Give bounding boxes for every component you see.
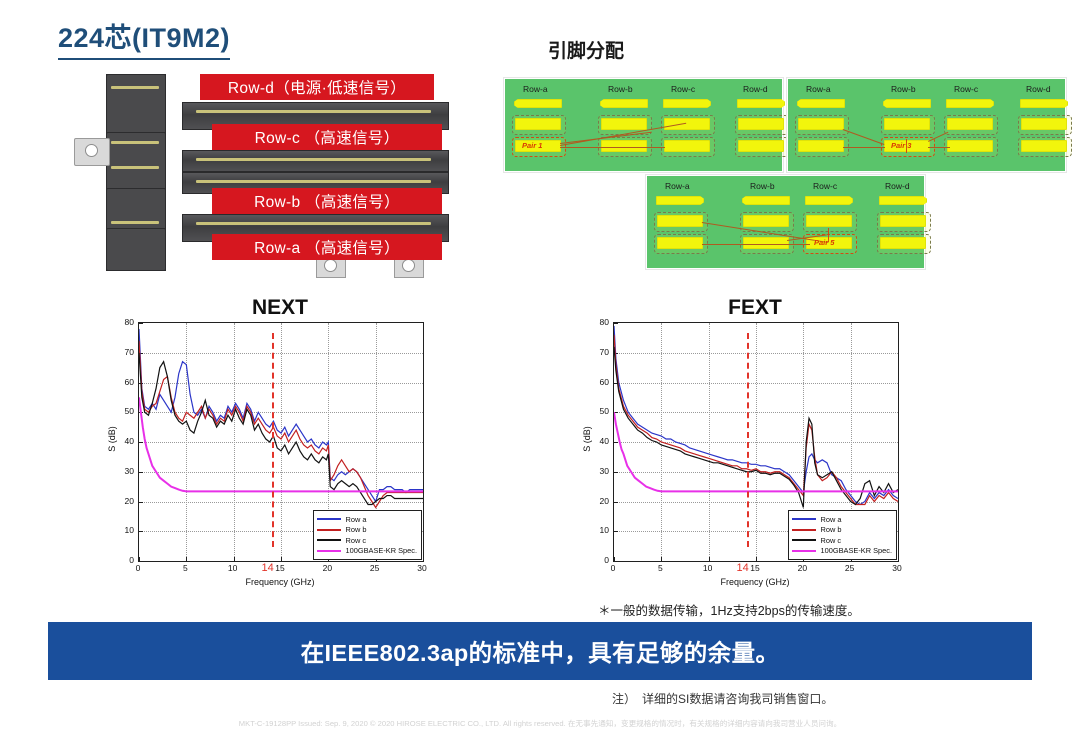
pin-bar-top-d (737, 99, 785, 108)
row-label-row-c: Row-c （高速信号） (212, 124, 442, 150)
legend-label: Row a (821, 516, 842, 523)
series-line (614, 335, 898, 505)
x-tick-label: 25 (839, 563, 861, 573)
y-tick-label: 50 (112, 406, 134, 416)
legend-item: Row a (317, 514, 417, 525)
legend-label: Row b (821, 526, 842, 533)
series-line (139, 353, 423, 505)
series-line (614, 412, 898, 491)
y-axis-label: S (dB) (582, 419, 592, 459)
next-chart: NEXTRow aRow bRow c100GBASE-KR Spec.0102… (100, 296, 430, 594)
chart-title: FEXT (613, 296, 897, 320)
pin-bar-b2 (601, 140, 647, 152)
legend-swatch (792, 518, 816, 520)
connector-plug-pin-1 (196, 110, 431, 113)
legend-swatch (792, 539, 816, 541)
y-tick-label: 10 (112, 525, 134, 535)
connector-pin-1 (111, 86, 159, 89)
pin-bar-top-b-3 (742, 196, 790, 205)
pair-tag-3: Pair 3 (891, 141, 911, 150)
pin-bar-a1 (515, 118, 561, 130)
pin-bar-d1-2 (1021, 118, 1067, 130)
pin-col-label-row-d: Row-d (743, 84, 768, 94)
y-tick-label: 70 (112, 347, 134, 357)
pin-bar-a1-2 (798, 118, 844, 130)
series-line (614, 347, 898, 508)
conclusion-banner-text: 在IEEE802.3ap的标准中，具有足够的余量。 (301, 634, 780, 668)
connector-left-seg-1 (106, 74, 166, 134)
x-tick-mark (898, 557, 899, 561)
pin-bar-c2-2 (947, 140, 993, 152)
pin-link-10 (702, 244, 810, 245)
pin-link-2 (560, 147, 665, 148)
y-tick-label: 50 (587, 406, 609, 416)
connector-plug-mid1 (182, 150, 449, 172)
pair-tag-1: Pair 1 (522, 141, 542, 150)
plot-area: Row aRow bRow c100GBASE-KR Spec. (613, 322, 899, 562)
pin-col-label-row-c-2: Row-c (954, 84, 978, 94)
y-tick-mark (139, 561, 143, 562)
y-tick-label: 10 (587, 525, 609, 535)
annotation-vertical-line (272, 333, 274, 547)
connector-pin-3 (111, 166, 159, 169)
legend-label: Row c (821, 537, 842, 544)
legend-swatch (317, 550, 341, 552)
y-tick-mark (614, 561, 618, 562)
x-tick-label: 20 (791, 563, 813, 573)
x-tick-label: 5 (174, 563, 196, 573)
x-tick-label: 30 (411, 563, 433, 573)
y-tick-label: 60 (112, 377, 134, 387)
pin-bar-top-b-2 (883, 99, 931, 108)
legend-item: Row a (792, 514, 892, 525)
y-tick-label: 20 (587, 496, 609, 506)
pin-bar-top-b (600, 99, 648, 108)
pin-bar-top-a-3 (656, 196, 704, 205)
y-tick-label: 30 (112, 466, 134, 476)
pin-col-label-row-b-2: Row-b (891, 84, 916, 94)
row-label-row-a: Row-a （高速信号） (212, 234, 442, 260)
legend-item: Row b (792, 525, 892, 536)
legend-item: Row c (317, 535, 417, 546)
pin-panel-pair-5: Row-a Row-b Row-c Row-d Pair 5 (646, 175, 925, 269)
y-tick-label: 60 (587, 377, 609, 387)
chart-legend: Row aRow bRow c100GBASE-KR Spec. (788, 510, 897, 560)
pin-bar-d2-3 (880, 237, 926, 249)
pin-col-label-row-d-2: Row-d (1026, 84, 1051, 94)
pin-bar-b1-2 (884, 118, 930, 130)
pin-col-label-row-c: Row-c (671, 84, 695, 94)
y-axis-label: S (dB) (107, 419, 117, 459)
connector-plug-pin-3 (196, 180, 431, 183)
pin-bar-c2 (664, 140, 710, 152)
connector-figure: Row-d（电源·低速信号） Row-c （高速信号） Row-b （高速信号）… (76, 66, 446, 281)
pin-bar-b1-3 (743, 215, 789, 227)
series-line (139, 329, 423, 502)
legend-label: Row c (346, 537, 367, 544)
page-title: 224芯(IT9M2) (58, 16, 230, 60)
pin-col-label-row-a: Row-a (523, 84, 548, 94)
legend-label: 100GBASE-KR Spec. (346, 547, 417, 554)
x-tick-label: 0 (602, 563, 624, 573)
connector-pin-2 (111, 141, 159, 144)
connector-left-seg-4 (106, 228, 166, 271)
legend-label: 100GBASE-KR Spec. (821, 547, 892, 554)
pin-col-label-row-a-3: Row-a (665, 181, 690, 191)
legend-item: Row b (317, 525, 417, 536)
pin-col-label-row-a-2: Row-a (806, 84, 831, 94)
footer-copyright: MKT-C-19128PP Issued: Sep. 9, 2020 © 202… (0, 718, 1080, 729)
legend-swatch (317, 529, 341, 531)
pin-panel-pair-3: Row-a Row-b Row-c Row-d Pair 3 (787, 78, 1066, 172)
legend-item: Row c (792, 535, 892, 546)
note-line: 注） 详细的SI数据请咨询我司销售窗口。 (612, 690, 833, 707)
chart-title: NEXT (138, 296, 422, 320)
fext-chart: FEXTRow aRow bRow c100GBASE-KR Spec.0102… (575, 296, 905, 594)
pin-bar-d2 (738, 140, 784, 152)
pin-col-label-row-c-3: Row-c (813, 181, 837, 191)
pin-bar-top-a (514, 99, 562, 108)
pin-bar-a1-3 (657, 215, 703, 227)
pin-col-label-row-b-3: Row-b (750, 181, 775, 191)
legend-swatch (317, 539, 341, 541)
pin-bar-a2-2 (798, 140, 844, 152)
pin-link-5 (843, 147, 885, 148)
connector-foot-hole-right (402, 259, 415, 272)
x-tick-label: 25 (364, 563, 386, 573)
pin-bar-b2-3 (743, 237, 789, 249)
connector-plug-pin-4 (196, 222, 431, 225)
pin-bar-b1 (601, 118, 647, 130)
pin-assignment-title: 引脚分配 (548, 36, 624, 63)
pin-bar-c1-2 (947, 118, 993, 130)
x-tick-label: 10 (697, 563, 719, 573)
y-tick-label: 80 (587, 317, 609, 327)
x-tick-label: 20 (316, 563, 338, 573)
connector-mount-hole (85, 144, 98, 157)
pin-bar-c1-3 (806, 215, 852, 227)
x-tick-label: 0 (127, 563, 149, 573)
pin-col-label-row-d-3: Row-d (885, 181, 910, 191)
x-tick-label: 30 (886, 563, 908, 573)
pin-bar-top-c-3 (805, 196, 853, 205)
pin-bar-d1 (738, 118, 784, 130)
pair-tag-5: Pair 5 (814, 238, 834, 247)
pin-bar-top-a-2 (797, 99, 845, 108)
pin-link-7 (928, 147, 950, 148)
x-axis-label: Frequency (GHz) (138, 577, 422, 587)
annotation-label: 14 (737, 562, 749, 574)
pin-bar-d2-2 (1021, 140, 1067, 152)
pin-bar-top-c-2 (946, 99, 994, 108)
row-label-row-b: Row-b （高速信号） (212, 188, 442, 214)
pin-bar-d1-3 (880, 215, 926, 227)
pin-col-label-row-b: Row-b (608, 84, 633, 94)
conclusion-banner: 在IEEE802.3ap的标准中，具有足够的余量。 (48, 622, 1032, 680)
connector-plug-pin-2 (196, 158, 431, 161)
y-tick-label: 70 (587, 347, 609, 357)
y-tick-label: 30 (587, 466, 609, 476)
plot-area: Row aRow bRow c100GBASE-KR Spec. (138, 322, 424, 562)
legend-label: Row a (346, 516, 367, 523)
y-tick-label: 80 (112, 317, 134, 327)
pin-bar-a2-3 (657, 237, 703, 249)
legend-label: Row b (346, 526, 367, 533)
legend-swatch (792, 529, 816, 531)
connector-foot-hole-left (324, 259, 337, 272)
x-tick-label: 10 (222, 563, 244, 573)
x-tick-label: 5 (649, 563, 671, 573)
fext-footnote: ＊一般的数据传输，1Hz支持2bps的传输速度。 (598, 600, 860, 619)
legend-swatch (317, 518, 341, 520)
pin-bar-top-d-3 (879, 196, 927, 205)
row-label-row-d: Row-d（电源·低速信号） (200, 74, 434, 100)
pin-bar-c1 (664, 118, 710, 130)
series-line (139, 397, 423, 491)
legend-item: 100GBASE-KR Spec. (317, 546, 417, 557)
x-tick-mark (423, 557, 424, 561)
annotation-label: 14 (262, 562, 274, 574)
pin-bar-top-d-2 (1020, 99, 1068, 108)
chart-legend: Row aRow bRow c100GBASE-KR Spec. (313, 510, 422, 560)
series-line (614, 326, 898, 505)
legend-swatch (792, 550, 816, 552)
legend-item: 100GBASE-KR Spec. (792, 546, 892, 557)
annotation-vertical-line (747, 333, 749, 547)
connector-pin-4 (111, 221, 159, 224)
pin-bar-top-c (663, 99, 711, 108)
y-tick-label: 20 (112, 496, 134, 506)
pin-panel-pair-1: Row-a Row-b Row-c Row-d Pair 1 (504, 78, 783, 172)
x-axis-label: Frequency (GHz) (613, 577, 897, 587)
